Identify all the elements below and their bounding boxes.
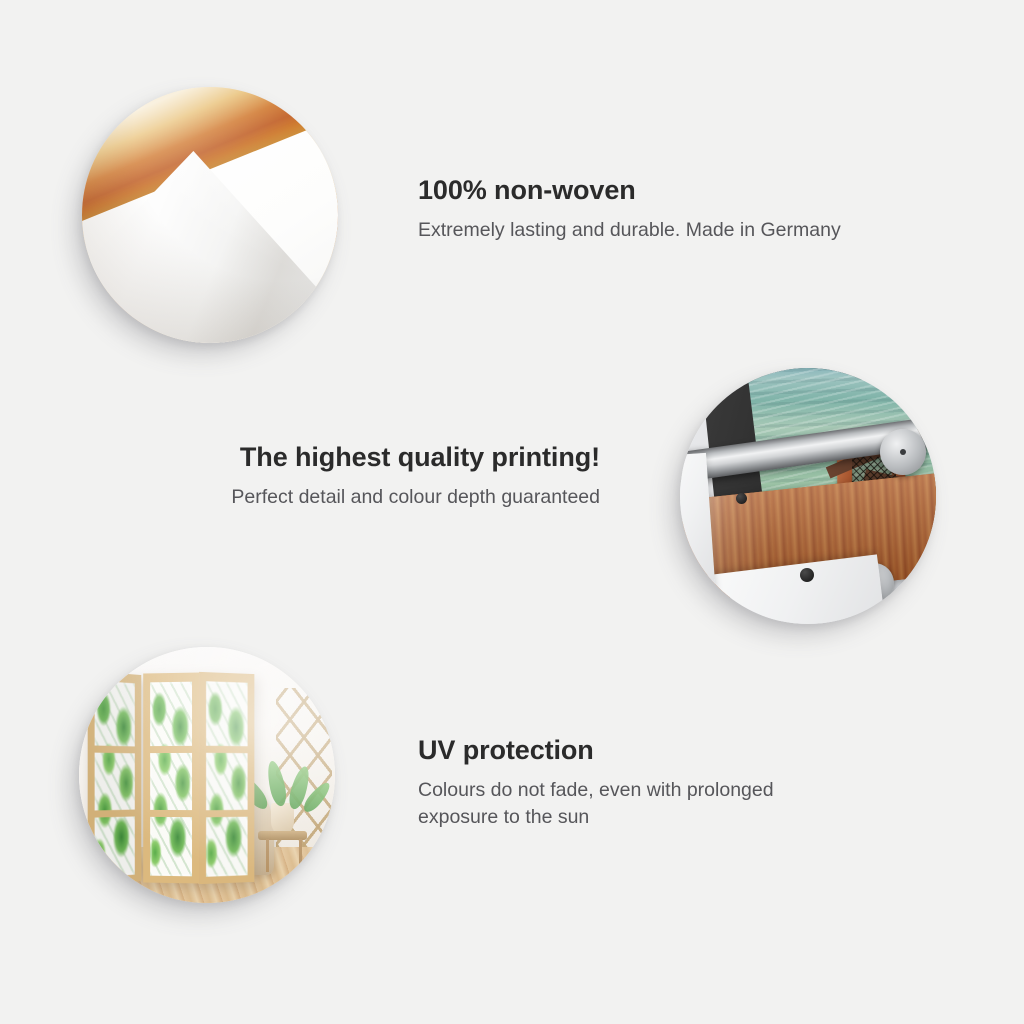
feature-title-non-woven: 100% non-woven [418,176,858,206]
wallpaper-vignette [82,87,338,343]
side-table-leg-right [299,839,302,872]
tropical-room-divider [87,673,256,883]
printer-roller-hub-top [880,429,926,475]
feature-text-non-woven: 100% non-woven Extremely lasting and dur… [418,176,858,244]
side-table-leg-left [266,839,269,872]
peeling-wallpaper-illustration [82,87,338,343]
divider-panel-right [199,671,255,883]
feature-description-printing: Perfect detail and colour depth guarante… [160,484,600,512]
feature-text-uv-protection: UV protection Colours do not fade, even … [418,736,818,832]
feature-title-printing: The highest quality printing! [160,443,600,473]
room-divider-illustration [79,647,335,903]
feature-image-printing [680,368,936,624]
divider-panel-middle [143,672,199,883]
feature-text-printing: The highest quality printing! Perfect de… [160,443,600,511]
feature-title-uv-protection: UV protection [418,736,818,766]
feature-infographic: 100% non-woven Extremely lasting and dur… [0,0,1024,1024]
divider-panel-left [87,670,141,884]
printer-illustration [680,368,936,624]
feature-description-non-woven: Extremely lasting and durable. Made in G… [418,217,858,245]
feature-description-uv-protection: Colours do not fade, even with prolonged… [418,777,818,832]
feature-image-uv-protection [79,647,335,903]
feature-image-non-woven [82,87,338,343]
printer-knob-1 [800,568,814,582]
